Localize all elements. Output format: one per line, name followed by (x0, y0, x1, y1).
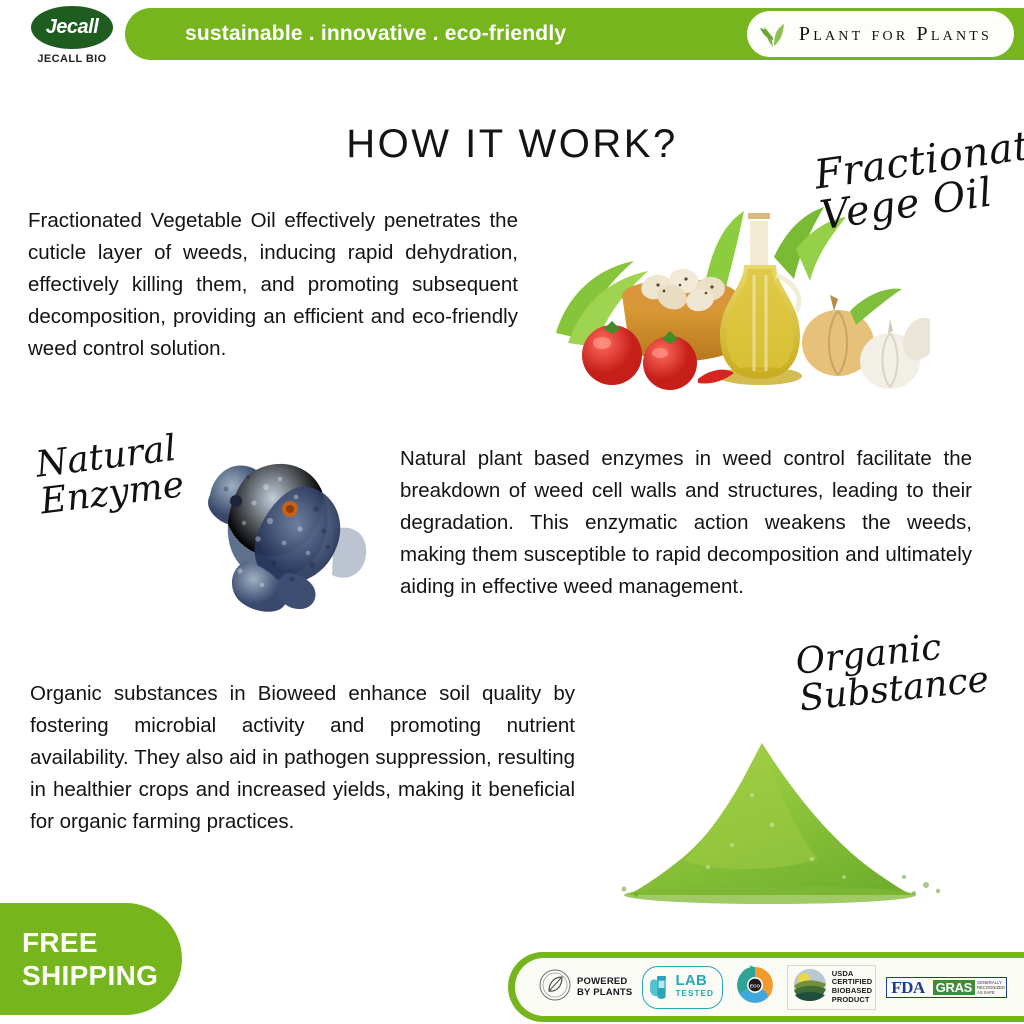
plant-for-plants-badge[interactable]: Plant for Plants (747, 11, 1014, 57)
cert-lab-tested-line2: TESTED (675, 988, 713, 998)
cert-lab-tested-line1: LAB (675, 972, 707, 989)
svg-text:ECO: ECO (750, 983, 760, 988)
three-leaf-icon (759, 16, 789, 53)
script-label-organic-substance: Organic Substance (794, 623, 1015, 719)
leaf-in-circle-icon (538, 968, 572, 1007)
cert-usda-certified: USDA CERTIFIED BIOBASED PRODUCT (787, 965, 876, 1010)
free-shipping-line2: SHIPPING (22, 959, 182, 992)
plant-for-plants-label: Plant for Plants (799, 23, 992, 46)
green-powder-image (612, 735, 952, 907)
recycle-circle-icon: ECO (733, 963, 777, 1012)
cert-fda-bottom-row: GRAS GENERALLY RECOGNIZED AS SAFE (933, 980, 1005, 995)
page-header: sustainable . innovative . eco-friendly … (0, 0, 1024, 72)
usda-field-icon (791, 968, 829, 1007)
infographic-page: sustainable . innovative . eco-friendly … (0, 0, 1024, 1024)
cert-gras-label: GRAS (933, 980, 975, 995)
certification-bar: POWERED BY PLANTS LAB TESTED (508, 952, 1024, 1022)
brand-logo-mark: Jecall (31, 6, 113, 49)
free-shipping-line1: FREE (22, 926, 182, 959)
cert-lab-tested: LAB TESTED (642, 966, 722, 1009)
cert-lab-tested-label: LAB TESTED (675, 975, 713, 999)
paragraph-fractionated-vege-oil: Fractionated Vegetable Oil effectively p… (28, 205, 518, 365)
free-shipping-badge[interactable]: FREE SHIPPING (0, 903, 182, 1015)
cert-biodegradable-cycle: ECO (733, 963, 777, 1012)
enzyme-molecule-image (196, 443, 381, 615)
tagline-text: sustainable . innovative . eco-friendly (185, 8, 566, 60)
certification-list: POWERED BY PLANTS LAB TESTED (515, 958, 1024, 1016)
paragraph-organic-substance: Organic substances in Bioweed enhance so… (30, 678, 575, 838)
cert-powered-by-plants-label: POWERED BY PLANTS (577, 976, 632, 999)
cert-gras-note: GENERALLY RECOGNIZED AS SAFE (977, 980, 1005, 995)
cert-powered-by-plants: POWERED BY PLANTS (538, 968, 632, 1007)
test-tube-hand-icon (647, 970, 673, 1005)
cert-usda-label: USDA CERTIFIED BIOBASED PRODUCT (832, 970, 872, 1004)
brand-logo[interactable]: Jecall JECALL BIO (22, 6, 122, 65)
cert-fda-label: FDA (888, 979, 927, 996)
brand-logo-name: JECALL BIO (22, 53, 122, 65)
cert-fda-gras: FDA GRAS GENERALLY RECOGNIZED AS SAFE (886, 977, 1007, 998)
paragraph-natural-enzyme: Natural plant based enzymes in weed cont… (400, 443, 972, 603)
